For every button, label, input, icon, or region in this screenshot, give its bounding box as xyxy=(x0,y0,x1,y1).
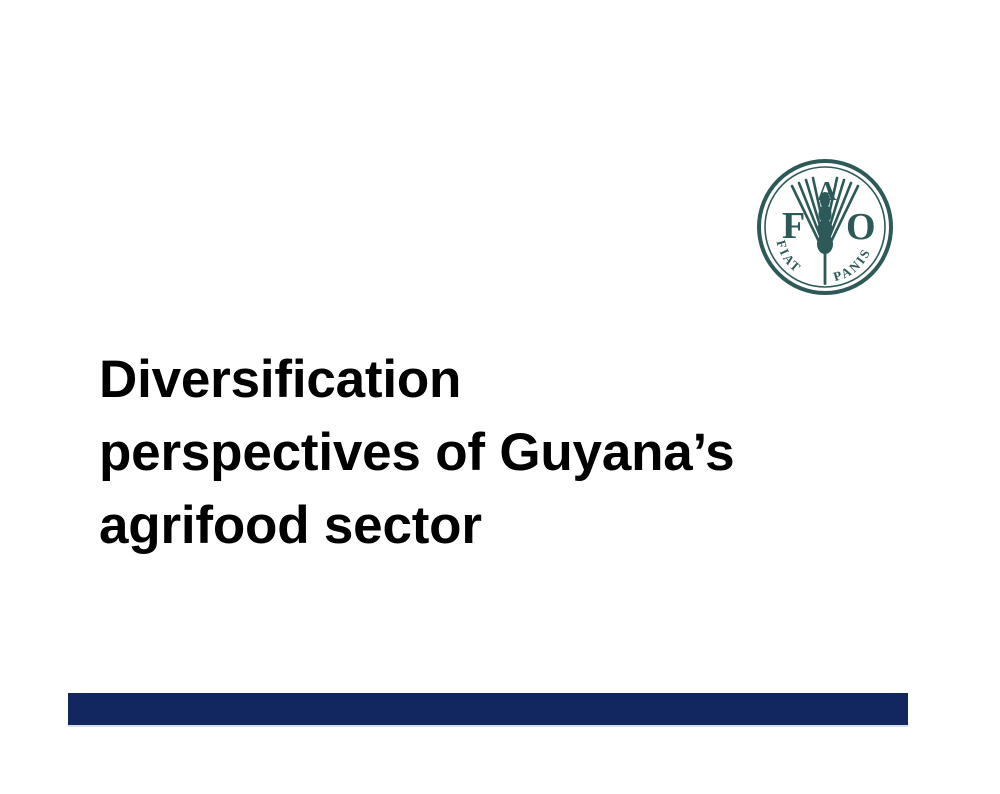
page-title-line-3: agrifood sector xyxy=(99,489,899,562)
page-title-line-1: Diversification xyxy=(99,343,899,416)
logo-letter-o: O xyxy=(846,206,876,248)
logo-letter-a: A xyxy=(817,176,837,206)
bottom-accent-bar xyxy=(68,693,908,725)
page-title: Diversification perspectives of Guyana’s… xyxy=(99,343,899,562)
bottom-accent-bar-underline xyxy=(68,725,908,727)
fao-logo-graphic: F A O FIAT PANIS xyxy=(754,156,896,298)
cover-page: F A O FIAT PANIS Diversification perspec… xyxy=(0,0,1000,794)
page-title-line-2: perspectives of Guyana’s xyxy=(99,416,899,489)
fao-logo: F A O FIAT PANIS xyxy=(754,156,896,298)
